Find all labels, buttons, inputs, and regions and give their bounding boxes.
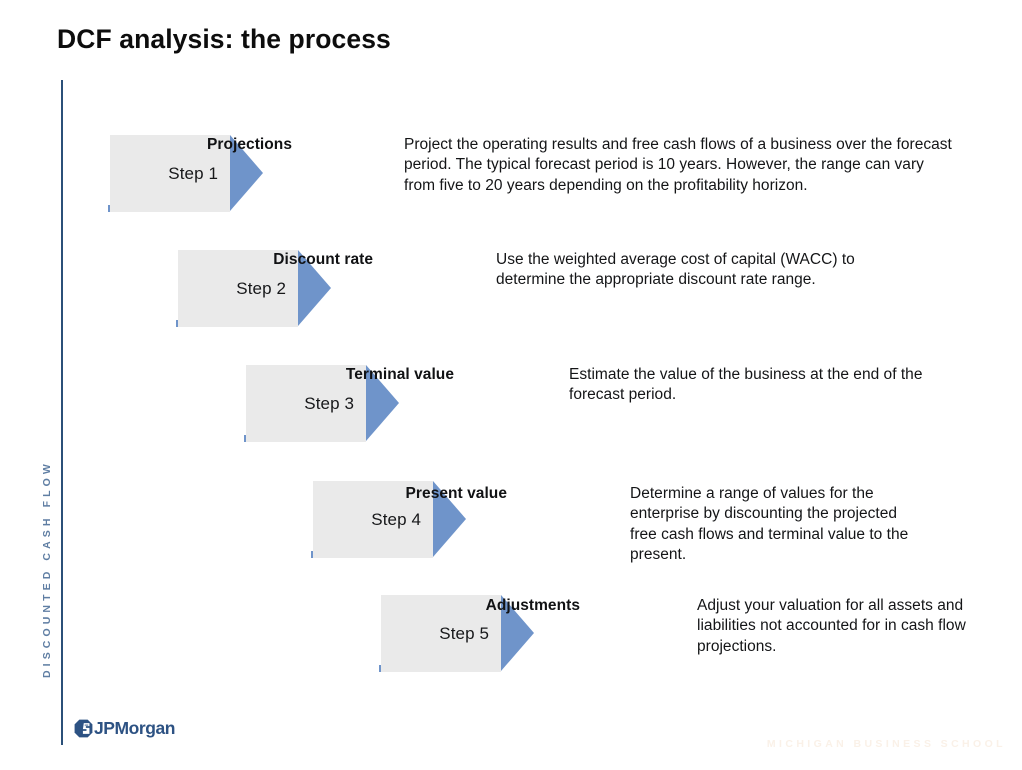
slide-canvas: DCF analysis: the process DISCOUNTED CAS… (0, 0, 1022, 770)
footer-institution-label: MICHIGAN BUSINESS SCHOOL (767, 738, 1006, 750)
jpmorgan-octagon-mark (74, 719, 93, 738)
step-category-label: Projections (175, 136, 292, 154)
step-description: Adjust your valuation for all assets and… (697, 596, 972, 657)
step-description: Determine a range of values for the ente… (630, 484, 920, 566)
step-category-label: Discount rate (260, 251, 373, 269)
step-description: Estimate the value of the business at th… (569, 365, 947, 406)
step-description: Use the weighted average cost of capital… (496, 250, 906, 291)
step-category-label: Adjustments (465, 597, 580, 615)
jpmorgan-wordmark: JPMorgan (94, 720, 175, 738)
step-description: Project the operating results and free c… (404, 135, 952, 196)
step-category-label: Terminal value (330, 366, 454, 384)
jpmorgan-logo: JPMorgan (74, 719, 175, 738)
process-steps-list: Step 1ProjectionsProject the operating r… (0, 0, 1022, 770)
step-category-label: Present value (398, 485, 507, 503)
